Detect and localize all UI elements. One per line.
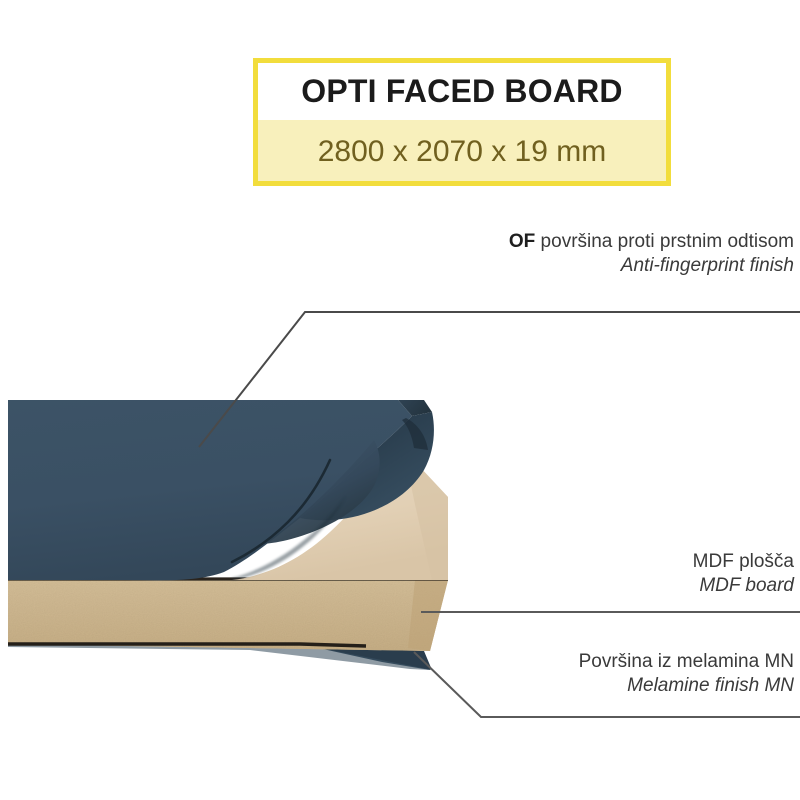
callout-melamine-finish-english: Melamine finish MN — [579, 674, 794, 698]
callout-melamine-finish-local: Površina iz melamina MN — [579, 650, 794, 674]
callout-mdf-board-english: MDF board — [693, 574, 794, 598]
callout-anti-fingerprint-code: OF — [509, 231, 535, 252]
product-title-plate: OPTI FACED BOARD 2800 x 2070 x 19 mm — [253, 58, 671, 186]
callout-mdf-board-local: MDF plošča — [693, 550, 794, 574]
callout-melamine-finish: Površina iz melamina MN Melamine finish … — [579, 650, 794, 699]
page-title: OPTI FACED BOARD — [301, 73, 622, 110]
mdf-core-edge — [8, 579, 448, 651]
diagram-canvas: OPTI FACED BOARD 2800 x 2070 x 19 mm OF … — [0, 0, 800, 800]
callout-anti-fingerprint-local: OF površina proti prstnim odtisom — [509, 230, 794, 254]
callout-mdf-board: MDF plošča MDF board — [693, 550, 794, 599]
callout-anti-fingerprint-local-text: površina proti prstnim odtisom — [535, 231, 794, 252]
product-dimensions: 2800 x 2070 x 19 mm — [318, 135, 607, 169]
title-plate-bottom-row: 2800 x 2070 x 19 mm — [258, 120, 666, 181]
callout-anti-fingerprint-english: Anti-fingerprint finish — [509, 254, 794, 278]
callout-anti-fingerprint: OF površina proti prstnim odtisom Anti-f… — [509, 230, 794, 279]
title-plate-top-row: OPTI FACED BOARD — [258, 63, 666, 120]
